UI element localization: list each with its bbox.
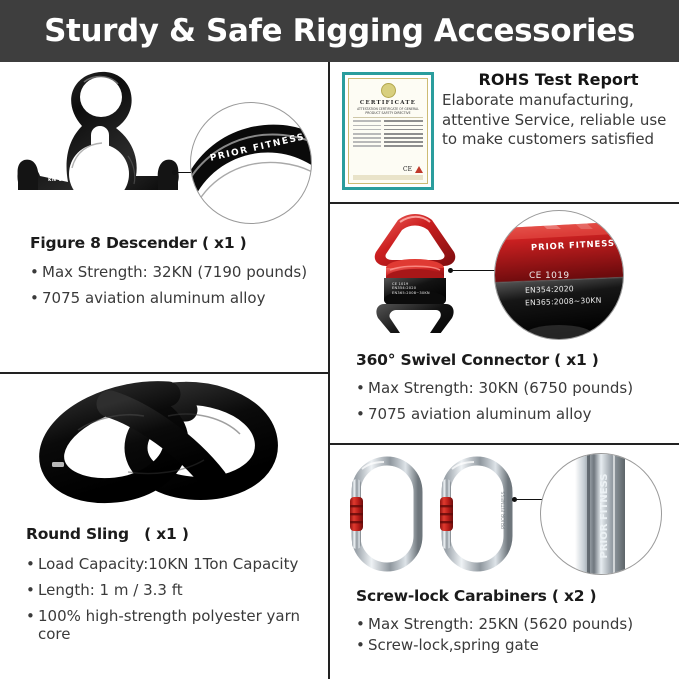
certificate-image: CERTIFICATE ATTESTATION CERTIFICATE OF G… [342, 72, 434, 190]
sling-bullet-0: Load Capacity:10KN 1Ton Capacity [26, 555, 328, 574]
sling-bullet-list: Load Capacity:10KN 1Ton Capacity Length:… [26, 555, 328, 644]
ce-mark-icon: CE [403, 166, 412, 173]
certificate-row [353, 129, 423, 131]
figure8-magnifier-circle: PRIOR FITNESS kN50 [190, 102, 312, 224]
figure8-product-image: kN 50 PRIOR FITNESS [6, 64, 206, 219]
panel-swivel-connector: CE 1019 EN354:2020 EN365:2008~30KN [330, 204, 679, 443]
certificate-seal-icon [381, 83, 396, 98]
sling-illustration [18, 376, 298, 506]
swivel-bullet-1: 7075 aviation aluminum alloy [356, 405, 676, 424]
sling-text-block: Round Sling ( x1 ) Load Capacity:10KN 1T… [26, 522, 328, 644]
carabiner-2: PRIOR FITNESS [440, 461, 508, 567]
figure8-text-block: Figure 8 Descender ( x1 ) Max Strength: … [30, 234, 326, 308]
certificate-marks: CE [353, 166, 423, 173]
certificate-heading: CERTIFICATE [353, 100, 423, 106]
swivel-cert-line3: EN365:2008~30KN [392, 291, 430, 295]
carabiner-magnified-detail: PRIOR FITNESS [541, 454, 661, 574]
swivel-callout-line [452, 270, 498, 271]
rohs-text-block: ROHS Test Report Elaborate manufacturing… [442, 70, 675, 150]
figure8-title: Figure 8 Descender ( x1 ) [30, 234, 326, 252]
certificate-row [353, 125, 423, 127]
certificate-body-lines [353, 120, 423, 147]
swivel-cert-line1: CE 1019 [392, 282, 408, 286]
svg-text:PRIOR FITNESS: PRIOR FITNESS [599, 474, 610, 559]
certificate-page: CERTIFICATE ATTESTATION CERTIFICATE OF G… [348, 78, 428, 184]
figure8-bullet-list: Max Strength: 32KN (7190 pounds) 7075 av… [30, 263, 326, 308]
figure8-bullet-0: Max Strength: 32KN (7190 pounds) [30, 263, 326, 282]
content-grid: kN 50 PRIOR FITNESS PRIOR FITNESS kN50 F… [0, 62, 679, 679]
certificate-footer: CE [353, 166, 423, 180]
certificate-row [353, 120, 423, 122]
panel-figure8-descender: kN 50 PRIOR FITNESS PRIOR FITNESS kN50 F… [0, 62, 328, 372]
sling-title: Round Sling ( x1 ) [26, 522, 328, 544]
certificate-subheading: ATTESTATION CERTIFICATE OF GENERAL PRODU… [353, 107, 423, 118]
sling-bullet-1: Length: 1 m / 3.3 ft [26, 581, 328, 600]
figure8-brand-engraving-small: PRIOR FITNESS [58, 196, 104, 201]
swivel-cert-line2: EN354:2020 [392, 286, 416, 290]
certificate-footer-band [353, 175, 423, 180]
carabiner-1 [350, 461, 418, 567]
swivel-title: 360° Swivel Connector ( x1 ) [356, 351, 676, 369]
sling-product-image [18, 376, 298, 506]
carabiner-magnifier-circle: PRIOR FITNESS [540, 453, 662, 575]
panel-round-sling: Round Sling ( x1 ) Load Capacity:10KN 1T… [0, 374, 328, 679]
warning-triangle-icon [415, 166, 423, 173]
figure8-bullet-1: 7075 aviation aluminum alloy [30, 289, 326, 308]
carabiners-bullet-0: Max Strength: 25KN (5620 pounds) [356, 615, 676, 634]
header-banner: Sturdy & Safe Rigging Accessories [0, 0, 679, 62]
carabiners-text-block: Screw-lock Carabiners ( x2 ) Max Strengt… [356, 587, 676, 655]
page-title: Sturdy & Safe Rigging Accessories [44, 13, 635, 49]
swivel-magnifier-circle: PRIOR FITNESS CE 1019 EN354:2020 EN365:2… [494, 210, 624, 340]
certificate-row [353, 137, 423, 139]
certificate-row [353, 141, 423, 143]
swivel-detail-cert-line1: CE 1019 [529, 271, 570, 281]
figure8-body-engraving: kN 50 [48, 177, 67, 183]
carabiners-bullet-1: Screw-lock,spring gate [356, 636, 676, 655]
product-infographic: Sturdy & Safe Rigging Accessories [0, 0, 679, 679]
rohs-title: ROHS Test Report [442, 70, 675, 89]
sling-bullet-2: 100% high-strength polyester yarn core [26, 607, 328, 645]
carabiners-bullet-list: Max Strength: 25KN (5620 pounds) Screw-l… [356, 615, 676, 655]
svg-text:PRIOR FITNESS: PRIOR FITNESS [501, 491, 507, 529]
swivel-detail-cert-line2: EN354:2020 [525, 284, 574, 295]
swivel-text-block: 360° Swivel Connector ( x1 ) Max Strengt… [356, 351, 676, 424]
certificate-row [353, 145, 423, 147]
carabiners-title: Screw-lock Carabiners ( x2 ) [356, 587, 676, 605]
rohs-content: CERTIFICATE ATTESTATION CERTIFICATE OF G… [330, 62, 679, 202]
figure8-magnified-detail [191, 103, 311, 223]
panel-screwlock-carabiners: PRIOR FITNESS [330, 445, 679, 679]
rohs-description: Elaborate manufacturing, attentive Servi… [442, 91, 675, 150]
swivel-cert-engraving: CE 1019 EN354:2020 EN365:2008~30KN [392, 282, 430, 295]
certificate-row [353, 133, 423, 135]
swivel-bullet-0: Max Strength: 30KN (6750 pounds) [356, 379, 676, 398]
swivel-product-image: CE 1019 EN354:2020 EN365:2008~30KN [340, 208, 515, 328]
panel-rohs-report: CERTIFICATE ATTESTATION CERTIFICATE OF G… [330, 62, 679, 202]
carabiner-callout-line [516, 499, 544, 500]
swivel-bullet-list: Max Strength: 30KN (6750 pounds) 7075 av… [356, 379, 676, 424]
